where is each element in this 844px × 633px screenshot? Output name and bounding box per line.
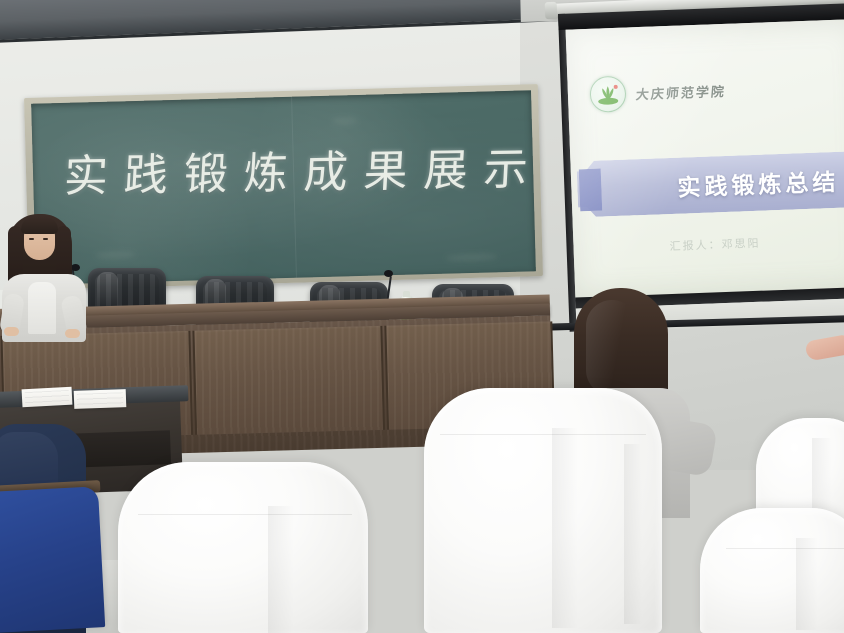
chair-cover: [118, 462, 368, 633]
chair-cover-fold: [268, 506, 294, 633]
notebook-lines: [25, 390, 70, 404]
microphone-head: [384, 270, 393, 277]
slide-school-name: 大庆师范学院: [635, 81, 727, 103]
presenter-hand-left: [4, 327, 19, 336]
wood-grain-texture: [194, 326, 383, 435]
slide-title: 实践锻炼总结: [677, 162, 844, 203]
blue-chair: [0, 486, 105, 633]
blackboard: 实践锻炼成果展示: [24, 84, 543, 290]
blackboard-headline: 实践锻炼成果展示: [63, 133, 506, 204]
left-attendee-arm: [0, 432, 58, 490]
projected-slide: 大庆师范学院 实践锻炼总结 汇报人：邓思阳: [566, 19, 844, 298]
chalk-smudge: [95, 251, 135, 259]
slide-presenter-line: 汇报人：邓思阳: [669, 231, 844, 254]
attendee-hair-sheen: [586, 300, 638, 396]
projection-screen: 大庆师范学院 实践锻炼总结 汇报人：邓思阳: [558, 3, 844, 332]
chair-cover-seam: [726, 548, 844, 549]
chair-cover: [700, 508, 844, 633]
bottle-cap: [403, 291, 410, 297]
podium-panel: [192, 326, 385, 435]
chalk-smudge: [332, 117, 358, 125]
classroom-photo-scene: 实践锻炼成果展示 大庆师范学院 实践: [0, 0, 844, 633]
screen-roller-cap: [545, 2, 558, 20]
notebook-lines: [77, 392, 123, 406]
presenter-eye-right: [43, 238, 48, 240]
chair-cover-fold: [796, 538, 818, 630]
university-logo-icon: [589, 76, 626, 113]
chalk-smudge: [445, 253, 497, 261]
blackboard-frame: 实践锻炼成果展示: [24, 84, 543, 290]
chair-cover-fold: [552, 428, 578, 628]
chair-cover-seam: [440, 434, 646, 435]
presenter-person: [2, 208, 92, 338]
slide-title-accent-block: [579, 169, 603, 212]
presenter-inner-top: [28, 282, 56, 334]
presenter-hand-right: [65, 329, 80, 338]
presenter-bangs: [21, 217, 58, 234]
chair-cover-seam: [138, 514, 352, 515]
open-notebook-left-page: [22, 387, 73, 408]
chair-cover: [424, 388, 662, 633]
presenter-eye-left: [29, 238, 34, 240]
chair-cover-fold: [624, 444, 642, 624]
open-notebook-right-page: [74, 389, 127, 409]
